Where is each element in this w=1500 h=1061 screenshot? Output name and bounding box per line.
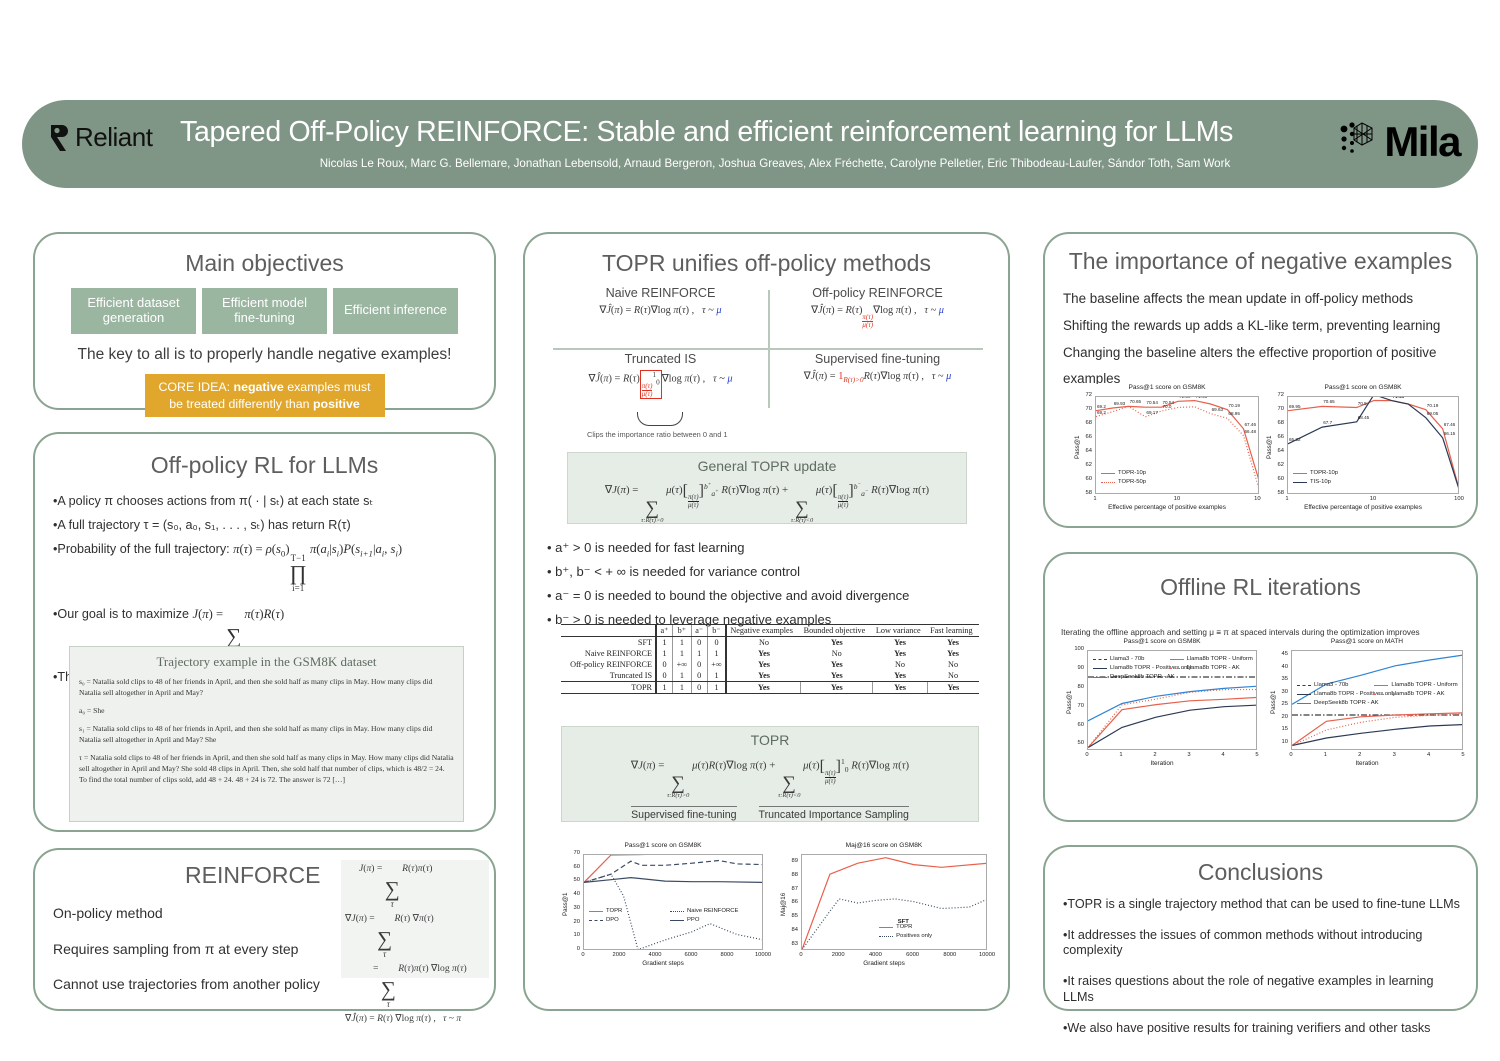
core-idea-banner: CORE IDEA: negative examples must be tre… xyxy=(145,374,385,417)
y-tick: 72 xyxy=(1071,392,1092,398)
legend-entry: PPO xyxy=(670,917,699,923)
poster-authors: Nicolas Le Roux, Marc G. Bellemare, Jona… xyxy=(180,157,1370,170)
reinforce-title: REINFORCE xyxy=(185,862,320,889)
trajectory-item: τ = Natalia sold clips to 48 of her frie… xyxy=(79,752,454,785)
cell: 1 xyxy=(673,670,692,682)
y-tick: 10 xyxy=(1267,739,1288,745)
data-label: 67.46 xyxy=(1444,422,1456,427)
table-row-topr: TOPR 1 1 0 1 Yes Yes Yes Yes xyxy=(561,682,979,694)
y-tick: 72 xyxy=(1263,392,1284,398)
legend-swatch xyxy=(1093,668,1107,669)
bullet-text: Our goal is to maximize xyxy=(57,607,189,621)
data-label: 70.65 xyxy=(1323,399,1335,404)
cell: 1 xyxy=(707,648,726,659)
chart-annotation: SFT xyxy=(898,919,909,925)
legend-swatch xyxy=(1101,482,1115,483)
chart-offline-math: Pass@1 score on MATHPass@1Iteration10152… xyxy=(1265,638,1469,770)
x-tick: 10 xyxy=(1370,496,1376,502)
chart-title: Pass@1 score on GSM8K xyxy=(1261,384,1465,391)
y-tick: 35 xyxy=(1267,676,1288,682)
objective-chip: Efficient inference xyxy=(333,288,458,334)
data-label: 71.48 xyxy=(1196,396,1208,399)
bullet-trajectory: •A full trajectory τ = (s₀, a₀, s₁, . . … xyxy=(53,517,476,534)
legend-entry: DeepSeek8b TOPR - AK xyxy=(1093,674,1175,680)
cell: 1 xyxy=(673,648,692,659)
x-tick: 10000 xyxy=(755,952,771,958)
legend-entry: Llama3 - 70b xyxy=(1297,682,1348,688)
legend-swatch xyxy=(670,911,684,912)
prod-limits: T−1∏i=1 xyxy=(290,554,307,593)
legend-swatch xyxy=(589,920,603,921)
data-label: 69.2 xyxy=(1097,404,1106,409)
quad-equation: ∇Ĵ(π) = R(τ)∇log π(τ) , τ ~ μ xyxy=(553,304,768,316)
x-tick: 2 xyxy=(1358,752,1361,758)
quad-label: Supervised fine-tuning xyxy=(770,352,985,366)
quad-truncated-is: Truncated IS ∇Ĵ(π) = R(τ)π(τ)μ(τ)10∇log … xyxy=(553,352,768,399)
y-tick: 85 xyxy=(777,913,798,919)
y-tick: 62 xyxy=(1263,462,1284,468)
legend-entry: Positives only xyxy=(879,933,932,939)
data-label: 70.19 xyxy=(1228,403,1240,408)
chart-title: Pass@1 score on MATH xyxy=(1265,638,1469,645)
core-idea-negative: negative xyxy=(234,380,284,394)
data-label: 69.95 xyxy=(1289,404,1301,409)
legend-swatch xyxy=(1297,694,1311,695)
col-header: b⁻ xyxy=(707,625,726,637)
row-label: SFT xyxy=(561,637,656,649)
legend-entry: Llama8b TOPR - Uniform xyxy=(1374,682,1457,688)
x-tick: 10 xyxy=(1174,496,1180,502)
cell: 0 xyxy=(656,670,673,682)
quad-divider-horizontal xyxy=(553,348,983,350)
quad-supervised-fine-tuning: Supervised fine-tuning ∇Ĵ(π) = 1R(τ)>0R(… xyxy=(770,352,985,384)
col-header: a⁻ xyxy=(691,625,707,637)
cell: No xyxy=(726,637,800,649)
x-tick: 0 xyxy=(1289,752,1292,758)
col-header: Fast learning xyxy=(927,625,979,637)
x-tick: 4 xyxy=(1427,752,1430,758)
cell: Yes xyxy=(801,659,873,670)
x-tick: 8000 xyxy=(721,952,734,958)
general-topr-update-box: General TOPR update ∇J(π) = ∑τ:R(τ)>0 μ(… xyxy=(567,452,967,524)
row-label: TOPR xyxy=(561,682,656,694)
clip-brace-icon xyxy=(637,412,683,426)
y-tick: 87 xyxy=(777,886,798,892)
topr-title: TOPR unifies off-policy methods xyxy=(525,250,1008,277)
legend-swatch xyxy=(670,920,684,921)
legend-entry: Llama8b TOPR - AK xyxy=(1170,665,1240,671)
cell: +∞ xyxy=(707,659,726,670)
core-idea-pre: CORE IDEA: xyxy=(158,380,233,394)
cell: 1 xyxy=(707,682,726,694)
trajectory-example-box: Trajectory example in the GSM8K dataset … xyxy=(69,646,464,822)
offline-title: Offline RL iterations xyxy=(1045,574,1476,601)
cell: Yes xyxy=(873,682,927,694)
legend-entry: Llama8b TOPR - Uniform xyxy=(1170,656,1253,662)
cell: No xyxy=(801,648,873,659)
data-label: 71.39 xyxy=(1179,396,1191,399)
y-tick: 70 xyxy=(559,850,580,856)
bullet-probability: •Probability of the full trajectory: π(τ… xyxy=(53,541,476,593)
underlabel-sft: Supervised fine-tuning xyxy=(631,806,736,821)
y-tick: 20 xyxy=(1267,714,1288,720)
chart-plot-area xyxy=(583,854,763,950)
data-label: 70.65 xyxy=(1130,399,1142,404)
general-topr-title: General TOPR update xyxy=(568,458,966,474)
reinforce-eq: = ∑τ R(τ)π(τ) ∇log π(τ) xyxy=(345,964,485,1009)
chart-xlabel: Effective percentage of positive example… xyxy=(1069,504,1265,511)
quad-naive-reinforce: Naive REINFORCE ∇Ĵ(π) = R(τ)∇log π(τ) , … xyxy=(553,286,768,316)
y-tick: 84 xyxy=(777,927,798,933)
chart-xlabel: Gradient steps xyxy=(775,960,993,967)
legend-swatch xyxy=(1297,685,1311,686)
trajectory-item: s₁ = Natalia sold clips to 48 of her fri… xyxy=(79,723,454,745)
quad-label: Off-policy REINFORCE xyxy=(770,286,985,300)
cell: 1 xyxy=(656,682,673,694)
row-label: Truncated IS xyxy=(561,670,656,682)
mila-logo: Mila xyxy=(1338,117,1460,166)
legend-entry: Naive REINFORCE xyxy=(670,908,738,914)
cell: +∞ xyxy=(673,659,692,670)
legend-swatch xyxy=(1293,473,1307,474)
data-label: 69.17 xyxy=(1146,410,1158,415)
legend-entry: TIS-10p xyxy=(1293,479,1331,485)
legend-swatch xyxy=(1093,677,1107,678)
col-header: Negative examples xyxy=(726,625,800,637)
cell: No xyxy=(927,670,979,682)
chart-xlabel: Iteration xyxy=(1265,760,1469,767)
x-tick: 4000 xyxy=(649,952,662,958)
col-header: Bounded objective xyxy=(801,625,873,637)
legend-entry: TOPR-10p xyxy=(1293,470,1338,476)
y-tick: 68 xyxy=(1263,420,1284,426)
y-tick: 20 xyxy=(559,919,580,925)
y-tick: 50 xyxy=(559,877,580,883)
table-row: Truncated IS 0 1 0 1 Yes Yes Yes No xyxy=(561,670,979,682)
y-tick: 30 xyxy=(559,905,580,911)
x-tick: 8000 xyxy=(943,952,956,958)
cell: 1 xyxy=(656,648,673,659)
reinforce-lines: On-policy method Requires sampling from … xyxy=(53,896,320,1003)
legend-swatch xyxy=(1374,685,1388,686)
x-tick: 1 xyxy=(1119,752,1122,758)
data-label: 66.48 xyxy=(1245,429,1257,434)
x-tick: 2 xyxy=(1153,752,1156,758)
panel-negative-examples: The importance of negative examples The … xyxy=(1043,232,1478,528)
topr-bullet: • a⁻ = 0 is needed to bound the objectiv… xyxy=(547,584,997,608)
cell: Yes xyxy=(726,682,800,694)
y-tick: 45 xyxy=(1267,651,1288,657)
x-tick: 1 xyxy=(1324,752,1327,758)
poster-header: Reliant Tapered Off-Policy REINFORCE: St… xyxy=(22,100,1478,188)
data-label: 68.95 xyxy=(1228,411,1240,416)
bullet-text: A full trajectory τ = (s₀, a₀, s₁, . . .… xyxy=(57,518,350,532)
objectives-chip-row: Efficient dataset generation Efficient m… xyxy=(35,288,494,334)
x-tick: 6000 xyxy=(906,952,919,958)
cell: Yes xyxy=(873,648,927,659)
x-tick: 3 xyxy=(1187,752,1190,758)
y-tick: 70 xyxy=(1071,406,1092,412)
legend-entry: DeepSeek8b TOPR - AK xyxy=(1297,700,1379,706)
x-tick: 10000 xyxy=(979,952,995,958)
chart-neg-topr10p-tis10p: Pass@1 score on GSM8KPass@1Effective per… xyxy=(1261,384,1465,514)
trajectory-item: a₀ = She xyxy=(79,705,454,716)
legend-entry: DPO xyxy=(589,917,619,923)
reinforce-line: Requires sampling from π at every step xyxy=(53,932,320,968)
conclusion-item: •It addresses the issues of common metho… xyxy=(1063,928,1467,959)
cell: Yes xyxy=(801,682,873,694)
cell: 1 xyxy=(707,670,726,682)
data-label: 69.05 xyxy=(1427,411,1439,416)
topr-bullet: • a⁺ > 0 is needed for fast learning xyxy=(547,536,997,560)
table-row: Naive REINFORCE 1 1 1 1 Yes No Yes Yes xyxy=(561,648,979,659)
topr-quadrants: Naive REINFORCE ∇Ĵ(π) = R(τ)∇log π(τ) , … xyxy=(553,286,983,414)
legend-swatch xyxy=(1170,659,1184,660)
chart-title: Pass@1 score on GSM8K xyxy=(557,842,769,849)
col-header: b⁺ xyxy=(673,625,692,637)
y-tick: 60 xyxy=(559,864,580,870)
chart-neg-topr10p-50p: Pass@1 score on GSM8KPass@1Effective per… xyxy=(1069,384,1265,514)
y-tick: 64 xyxy=(1071,448,1092,454)
legend-swatch xyxy=(1297,703,1311,704)
cell: 1 xyxy=(656,637,673,649)
cell: 1 xyxy=(673,682,692,694)
y-tick: 66 xyxy=(1263,434,1284,440)
cell: 0 xyxy=(691,682,707,694)
negative-line: The baseline affects the mean update in … xyxy=(1063,286,1463,313)
legend-entry: Llama8b TOPR - AK xyxy=(1374,691,1444,697)
x-tick: 3 xyxy=(1393,752,1396,758)
quad-label: Truncated IS xyxy=(553,352,768,366)
reliant-logo: Reliant xyxy=(48,122,152,153)
y-tick: 58 xyxy=(1263,490,1284,496)
panel-conclusions: Conclusions •TOPR is a single trajectory… xyxy=(1043,845,1478,1011)
topr-condition-bullets: • a⁺ > 0 is needed for fast learning • b… xyxy=(547,536,997,632)
reinforce-eq: J(π) = ∑τ R(τ)π(τ) xyxy=(345,864,485,909)
x-tick: 100 xyxy=(1454,496,1464,502)
data-label: 70.19 xyxy=(1427,403,1439,408)
trajectory-title: Trajectory example in the GSM8K dataset xyxy=(79,654,454,670)
cell: Yes xyxy=(801,637,873,649)
col-header: Low variance xyxy=(873,625,927,637)
legend-swatch xyxy=(879,927,893,928)
legend-entry: TOPR xyxy=(589,908,622,914)
cell: Yes xyxy=(873,637,927,649)
cell: 0 xyxy=(691,637,707,649)
row-label: Naive REINFORCE xyxy=(561,648,656,659)
y-tick: 50 xyxy=(1063,740,1084,746)
mila-wordmark: Mila xyxy=(1384,121,1460,163)
topr-box-equation: ∇J(π) = ∑τ:R(τ)>0 μ(τ)R(τ)∇log π(τ) + ∑τ… xyxy=(562,757,978,800)
y-tick: 0 xyxy=(559,946,580,952)
data-label: 69.93 xyxy=(1114,401,1126,406)
quad-equation: ∇Ĵ(π) = 1R(τ)>0R(τ)∇log π(τ) , τ ~ μ xyxy=(770,370,985,384)
legend-swatch xyxy=(879,936,893,937)
col-header xyxy=(561,625,656,637)
y-tick: 88 xyxy=(777,872,798,878)
general-topr-equation: ∇J(π) = ∑τ:R(τ)>0 μ(τ)[π(τ)μ(τ)]b+a+ R(τ… xyxy=(568,481,966,524)
y-tick: 10 xyxy=(559,932,580,938)
chart-maj16-gsm8k: Maj@16 score on GSM8KMaj@16Gradient step… xyxy=(775,842,993,970)
data-label: 67.7 xyxy=(1323,420,1332,425)
chart-title: Pass@1 score on GSM8K xyxy=(1061,638,1263,645)
clip-note: Clips the importance ratio between 0 and… xyxy=(587,430,728,439)
data-label: 69.2 xyxy=(1097,410,1106,415)
y-tick: 80 xyxy=(1063,684,1084,690)
y-tick: 62 xyxy=(1071,462,1092,468)
x-tick: 0 xyxy=(1085,752,1088,758)
objectives-title: Main objectives xyxy=(35,250,494,277)
cell: Yes xyxy=(801,670,873,682)
cell: Yes xyxy=(927,682,979,694)
row-label: Off-policy REINFORCE xyxy=(561,659,656,670)
topr-bullet: • b⁺, b⁻ < + ∞ is needed for variance co… xyxy=(547,560,997,584)
x-tick: 2000 xyxy=(613,952,626,958)
underlabel-tis: Truncated Importance Sampling xyxy=(759,806,909,821)
y-tick: 89 xyxy=(777,858,798,864)
quad-off-policy-reinforce: Off-policy REINFORCE ∇Ĵ(π) = R(τ)π(τ)μ(τ… xyxy=(770,286,985,329)
x-tick: 1 xyxy=(1093,496,1096,502)
data-label: 71.48 xyxy=(1393,396,1405,399)
data-label: 66.15 xyxy=(1444,431,1456,436)
x-tick: 4 xyxy=(1221,752,1224,758)
legend-swatch xyxy=(589,911,603,912)
y-tick: 64 xyxy=(1263,448,1284,454)
y-tick: 58 xyxy=(1071,490,1092,496)
quad-equation: ∇Ĵ(π) = R(τ)π(τ)μ(τ)10∇log π(τ) , τ ~ μ xyxy=(553,370,768,399)
cell: 1 xyxy=(673,637,692,649)
y-tick: 86 xyxy=(777,899,798,905)
x-tick: 1 xyxy=(1285,496,1288,502)
topr-update-box: TOPR ∇J(π) = ∑τ:R(τ)>0 μ(τ)R(τ)∇log π(τ)… xyxy=(561,726,979,822)
quad-label: Naive REINFORCE xyxy=(553,286,768,300)
x-tick: 0 xyxy=(581,952,584,958)
objectives-key-line: The key to all is to properly handle neg… xyxy=(35,346,494,364)
reinforce-line: Cannot use trajectories from another pol… xyxy=(53,967,320,1003)
panel-off-policy-rl: Off-policy RL for LLMs •A policy π choos… xyxy=(33,432,496,832)
cell: Yes xyxy=(726,670,800,682)
negative-title: The importance of negative examples xyxy=(1045,248,1476,275)
data-label: 70.0 xyxy=(1163,404,1172,409)
objective-chip: Efficient model fine-tuning xyxy=(202,288,327,334)
data-label: 69.63 xyxy=(1212,407,1224,412)
data-label: 70.54 xyxy=(1146,400,1158,405)
legend-entry: TOPR-50p xyxy=(1101,479,1146,485)
cell: Yes xyxy=(726,659,800,670)
x-tick: 2000 xyxy=(832,952,845,958)
y-tick: 60 xyxy=(1263,476,1284,482)
reinforce-eq: ∇J(π) = ∑τ R(τ) ∇π(τ) xyxy=(345,914,485,959)
legend-swatch xyxy=(1293,482,1307,483)
chart-xlabel: Effective percentage of positive example… xyxy=(1261,504,1465,511)
chart-pass1-gsm8k-methods: Pass@1 score on GSM8KPass@1Gradient step… xyxy=(557,842,769,970)
bullet-policy: •A policy π chooses actions from π( · | … xyxy=(53,493,476,510)
chart-offline-gsm8k: Pass@1 score on GSM8KPass@1Iteration5060… xyxy=(1061,638,1263,770)
conclusion-item: •We also have positive results for train… xyxy=(1063,1021,1467,1037)
y-tick: 40 xyxy=(559,891,580,897)
y-tick: 68 xyxy=(1071,420,1092,426)
y-tick: 70 xyxy=(1063,703,1084,709)
y-tick: 15 xyxy=(1267,726,1288,732)
legend-swatch xyxy=(1374,694,1388,695)
panel-reinforce: REINFORCE On-policy method Requires samp… xyxy=(33,848,496,1011)
quad-equation: ∇Ĵ(π) = R(τ)π(τ)μ(τ)∇log π(τ) , τ ~ μ xyxy=(770,304,985,329)
cell: No xyxy=(927,659,979,670)
mila-mark-icon xyxy=(1338,117,1380,166)
reliant-wordmark: Reliant xyxy=(75,122,152,153)
data-label: 65.32 xyxy=(1289,437,1301,442)
panel-offline-rl: Offline RL iterations Iterating the offl… xyxy=(1043,552,1478,822)
chart-xlabel: Gradient steps xyxy=(557,960,769,967)
topr-box-underlabels: Supervised fine-tuning Truncated Importa… xyxy=(562,806,978,821)
cell: 0 xyxy=(691,670,707,682)
conclusion-item: •It raises questions about the role of n… xyxy=(1063,974,1467,1005)
data-label: 68.45 xyxy=(1358,415,1370,420)
cell: Yes xyxy=(873,670,927,682)
negative-line: Shifting the rewards up adds a KL-like t… xyxy=(1063,313,1463,340)
panel-topr: TOPR unifies off-policy methods Naive RE… xyxy=(523,232,1010,1011)
objective-chip: Efficient dataset generation xyxy=(71,288,196,334)
cell: 0 xyxy=(707,637,726,649)
cell: Yes xyxy=(927,648,979,659)
topr-box-title: TOPR xyxy=(562,732,978,748)
chart-title: Maj@16 score on GSM8K xyxy=(775,842,993,849)
legend-swatch xyxy=(1093,659,1107,660)
trajectory-item: s₀ = Natalia sold clips to 48 of her fri… xyxy=(79,676,454,698)
x-tick: 5 xyxy=(1255,752,1258,758)
data-label: 70.5 xyxy=(1358,401,1367,406)
y-tick: 100 xyxy=(1063,646,1084,652)
col-header: a⁺ xyxy=(656,625,673,637)
data-label: 67.46 xyxy=(1245,422,1257,427)
reinforce-eq: ∇Ĵ(π) = R(τ) ∇log π(τ) , τ ~ π xyxy=(345,1014,485,1025)
offpolicy-title: Off-policy RL for LLMs xyxy=(35,452,494,479)
conclusions-title: Conclusions xyxy=(1045,859,1476,886)
methods-comparison-table: a⁺ b⁺ a⁻ b⁻ Negative examples Bounded ob… xyxy=(561,624,979,694)
legend-swatch xyxy=(1170,668,1184,669)
conclusions-list: •TOPR is a single trajectory method that… xyxy=(1063,897,1467,1051)
legend-swatch xyxy=(1101,473,1115,474)
y-tick: 83 xyxy=(777,941,798,947)
x-tick: 4000 xyxy=(869,952,882,958)
cell: Yes xyxy=(726,648,800,659)
x-tick: 0 xyxy=(799,952,802,958)
y-tick: 60 xyxy=(1071,476,1092,482)
y-tick: 90 xyxy=(1063,665,1084,671)
legend-entry: Llama3 - 70b xyxy=(1093,656,1144,662)
cell: 0 xyxy=(691,659,707,670)
panel-main-objectives: Main objectives Efficient dataset genera… xyxy=(33,232,496,410)
core-idea-positive: positive xyxy=(313,397,360,411)
chart-xlabel: Iteration xyxy=(1061,760,1263,767)
bullet-text: Probability of the full trajectory: xyxy=(57,542,229,556)
x-tick: 5 xyxy=(1461,752,1464,758)
y-tick: 60 xyxy=(1063,722,1084,728)
table-row: SFT 1 1 0 0 No Yes Yes Yes xyxy=(561,637,979,649)
chart-title: Pass@1 score on GSM8K xyxy=(1069,384,1265,391)
poster-title: Tapered Off-Policy REINFORCE: Stable and… xyxy=(180,116,1380,149)
bullet-text: A policy π chooses actions from π( · | s… xyxy=(57,494,373,508)
y-tick: 70 xyxy=(1263,406,1284,412)
negative-lines: The baseline affects the mean update in … xyxy=(1063,286,1463,393)
conclusion-item: •TOPR is a single trajectory method that… xyxy=(1063,897,1467,913)
legend-entry: TOPR-10p xyxy=(1101,470,1146,476)
y-tick: 30 xyxy=(1267,689,1288,695)
reinforce-line: On-policy method xyxy=(53,896,320,932)
reliant-mark-icon xyxy=(48,123,70,153)
table-row: Off-policy REINFORCE 0 +∞ 0 +∞ Yes Yes N… xyxy=(561,659,979,670)
cell: No xyxy=(873,659,927,670)
